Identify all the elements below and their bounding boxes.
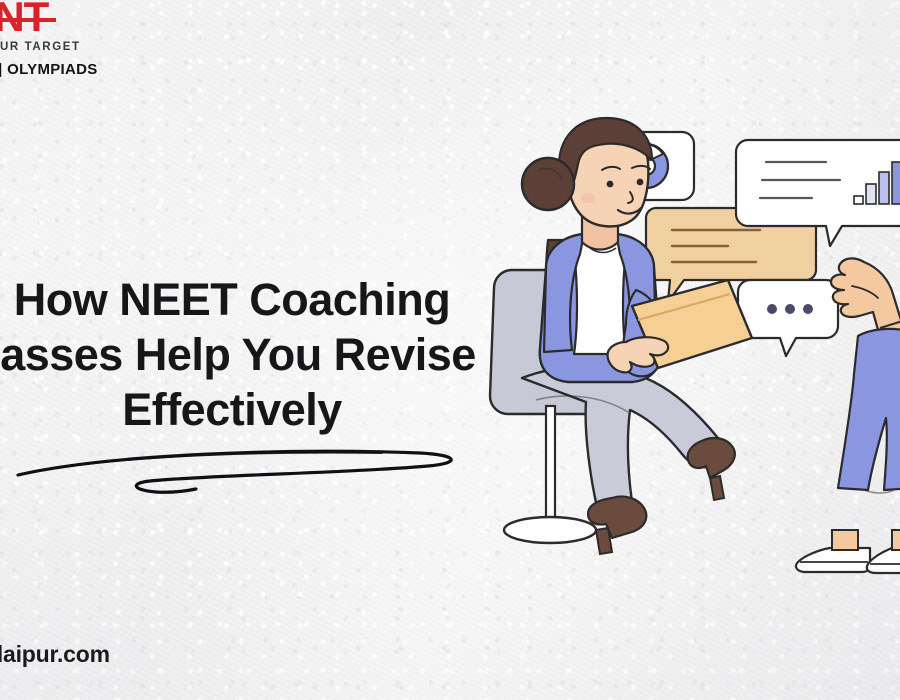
page-title: How NEET Coaching lasses Help You Revise… xyxy=(0,272,492,437)
logo-red-rule xyxy=(0,18,56,22)
seated-woman xyxy=(522,118,752,554)
logo-tagline: ESS IS OUR TARGET xyxy=(0,41,168,53)
typing-dots-bubble xyxy=(738,280,838,356)
brand-logo[interactable]: CENT ESS IS OUR TARGET OARDS | OLYMPIADS xyxy=(0,0,168,78)
banner-canvas: CENT ESS IS OUR TARGET OARDS | OLYMPIADS… xyxy=(0,0,900,700)
eye-left xyxy=(607,181,614,188)
site-url[interactable]: ntudaipur.com xyxy=(0,641,110,668)
headline-line-2: lasses Help You Revise xyxy=(0,327,492,382)
conversation-illustration xyxy=(460,110,900,610)
headline-line-1: How NEET Coaching xyxy=(0,272,492,327)
standing-person-lower-body xyxy=(796,329,900,573)
headline-line-3: Effectively xyxy=(0,382,492,437)
eye-right xyxy=(637,179,644,186)
logo-streams: OARDS | OLYMPIADS xyxy=(0,61,168,78)
